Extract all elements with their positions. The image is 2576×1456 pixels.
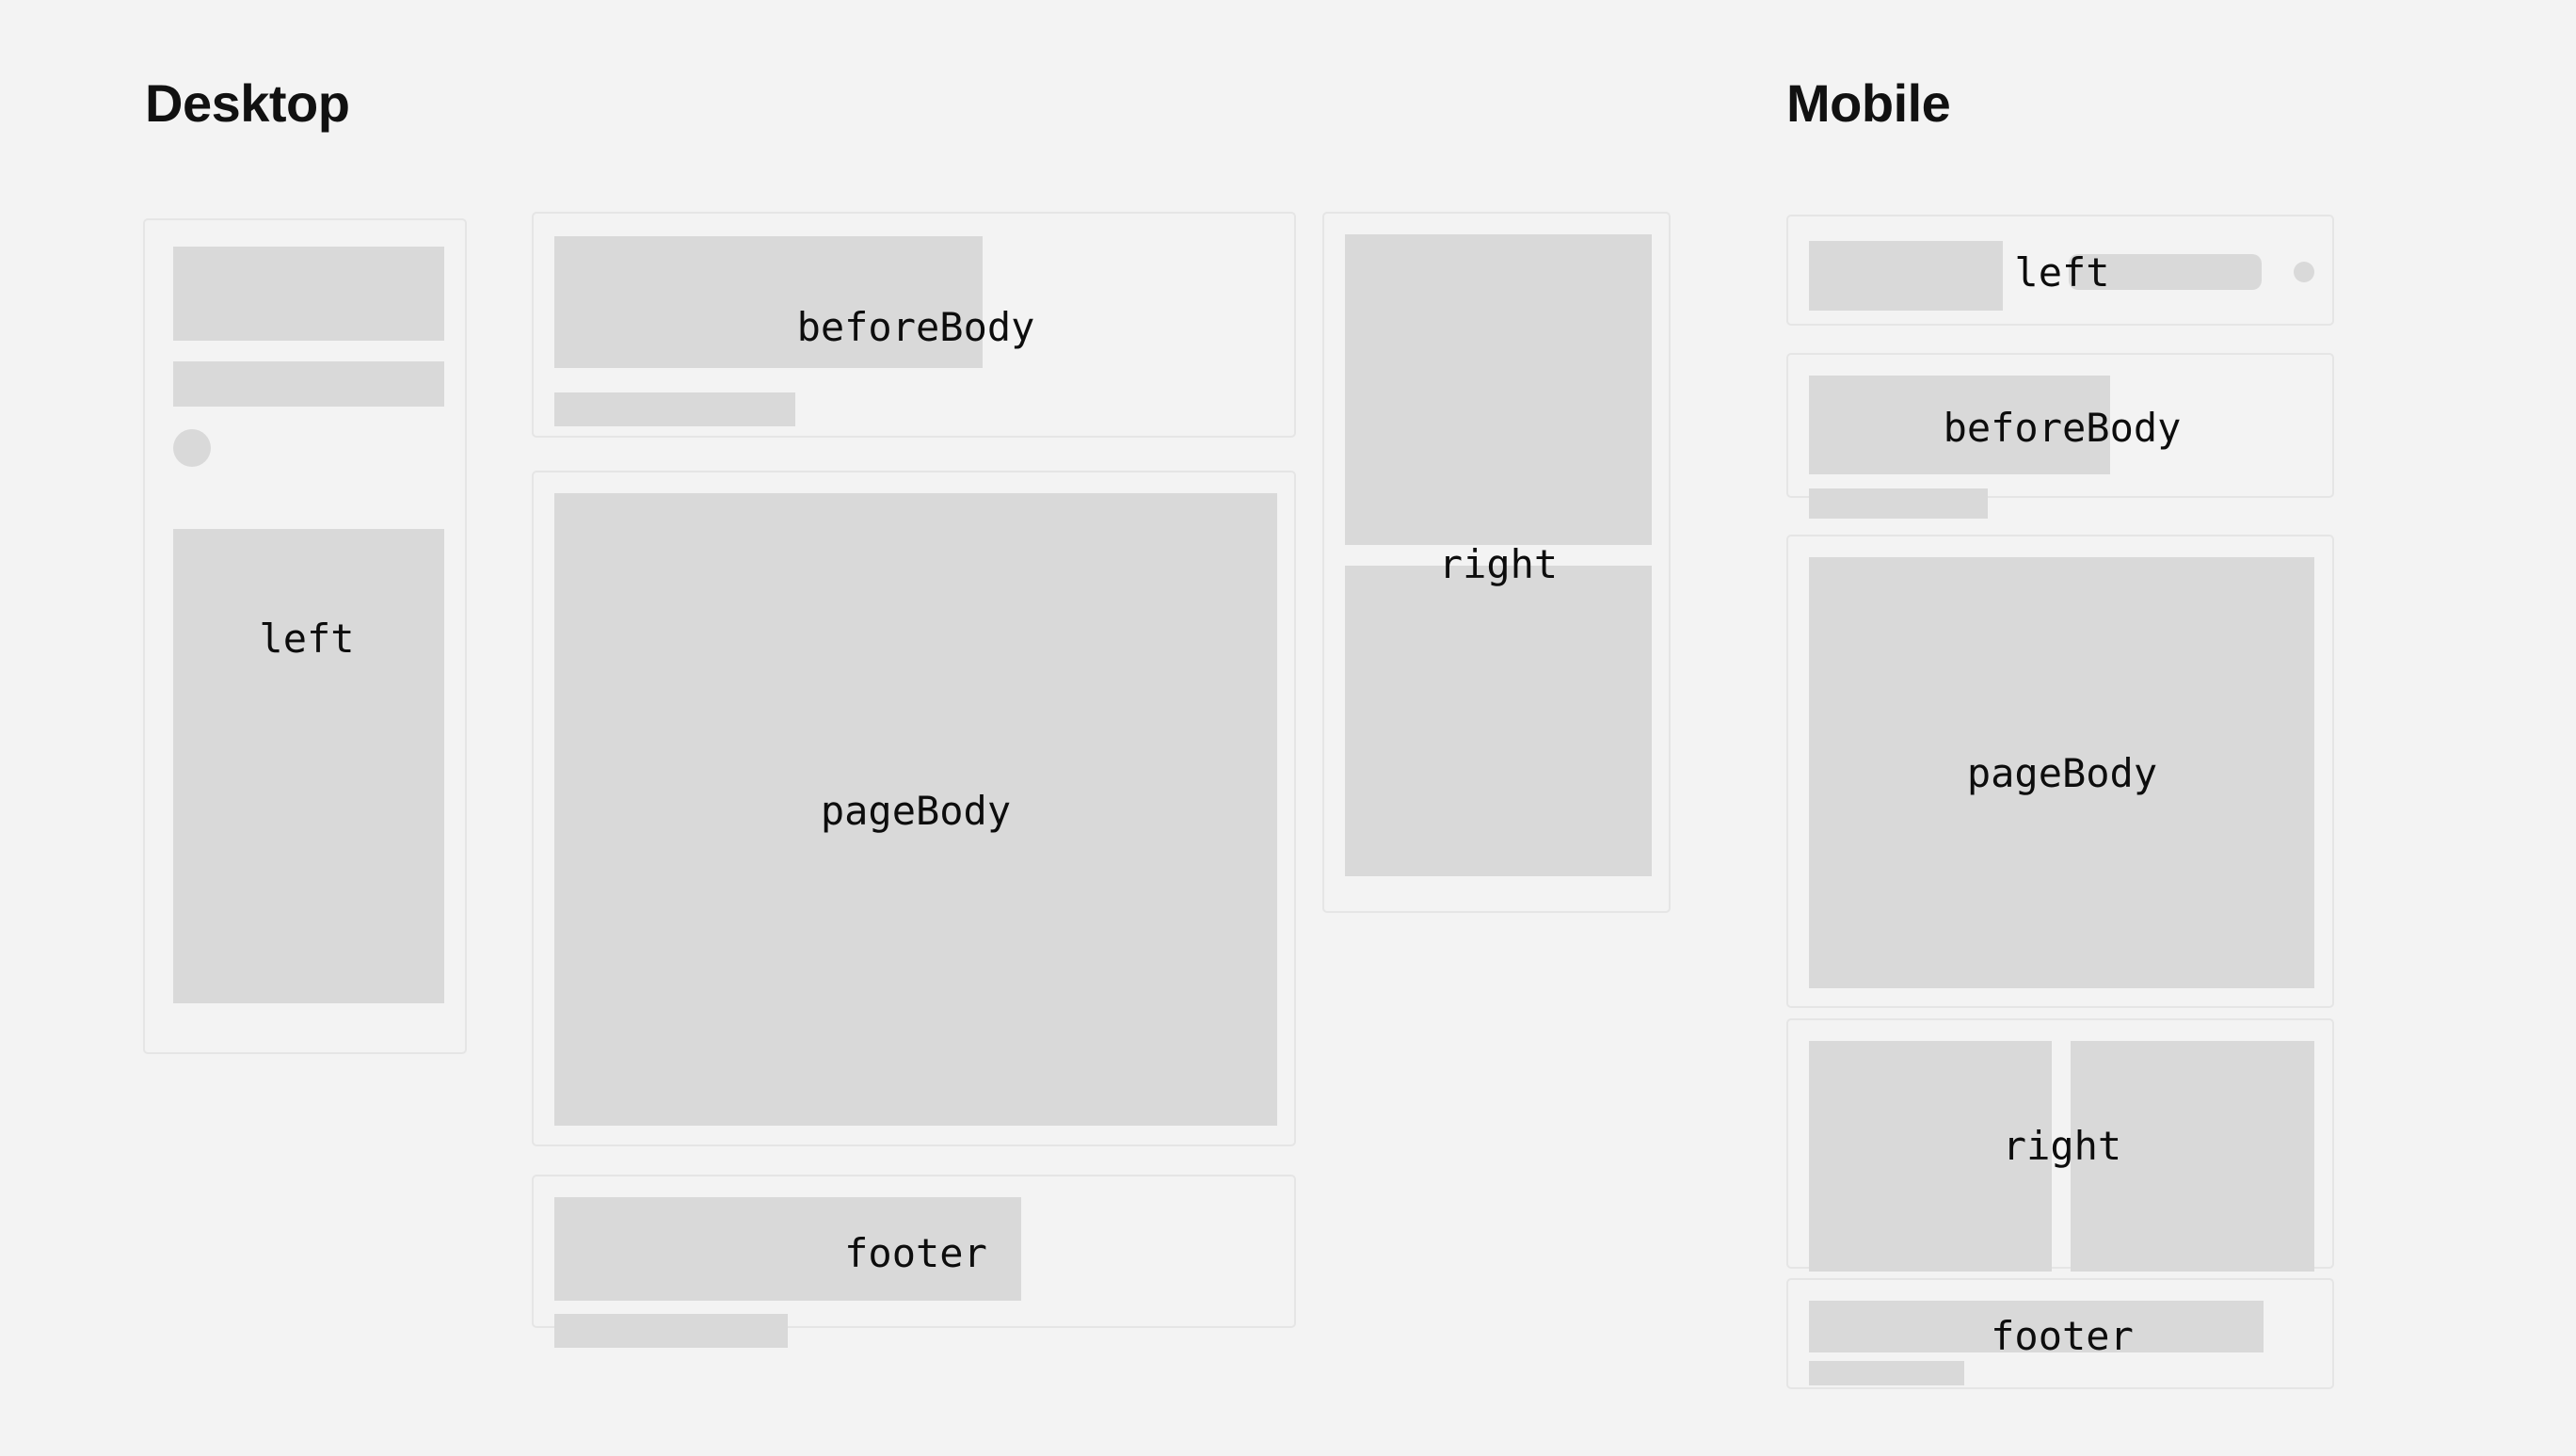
desktop-beforebody-region-panel[interactable]: beforeBody xyxy=(532,212,1296,438)
skeleton-block-rect-large xyxy=(173,247,444,341)
mobile-pagebody-region-panel[interactable]: pageBody xyxy=(1786,535,2334,1008)
desktop-pagebody-region-panel[interactable]: pageBody xyxy=(532,471,1296,1146)
skeleton-block-rect-bar xyxy=(173,361,444,407)
skeleton-block-avatar xyxy=(2294,262,2314,282)
skeleton-block-rect-left xyxy=(1809,1041,2052,1272)
mobile-right-region-panel[interactable]: right xyxy=(1786,1018,2334,1269)
skeleton-block-rect-right xyxy=(2071,1041,2314,1272)
skeleton-block-rect xyxy=(1809,241,2003,311)
skeleton-block-rect-small xyxy=(1809,1361,1964,1385)
skeleton-block-rect-large xyxy=(554,1197,1021,1301)
desktop-footer-region-panel[interactable]: footer xyxy=(532,1175,1296,1328)
skeleton-block-rect-large xyxy=(1809,1301,2264,1352)
skeleton-block-avatar xyxy=(173,429,211,467)
skeleton-block-rect-square xyxy=(554,493,1277,1126)
skeleton-block-rect-tall xyxy=(173,529,444,1003)
skeleton-block-rect-small xyxy=(1809,488,1988,519)
skeleton-block-rect-bottom xyxy=(1345,566,1652,876)
skeleton-block-rect-small xyxy=(554,392,795,426)
mobile-beforebody-region-panel[interactable]: beforeBody xyxy=(1786,353,2334,498)
skeleton-block-rect-large xyxy=(1809,376,2110,474)
skeleton-block-rect-large xyxy=(554,236,983,368)
skeleton-block-rect-small xyxy=(554,1314,788,1348)
mobile-footer-region-panel[interactable]: footer xyxy=(1786,1278,2334,1389)
skeleton-block-rect-top xyxy=(1345,234,1652,545)
desktop-left-region-panel[interactable]: left xyxy=(143,218,467,1054)
skeleton-block-pill xyxy=(2069,254,2262,290)
desktop-right-region-panel[interactable]: right xyxy=(1322,212,1671,913)
mobile-left-region-panel[interactable]: left xyxy=(1786,215,2334,326)
skeleton-block-rect-square xyxy=(1809,557,2314,988)
desktop-section-heading: Desktop xyxy=(145,77,349,130)
mobile-section-heading: Mobile xyxy=(1786,77,1950,130)
